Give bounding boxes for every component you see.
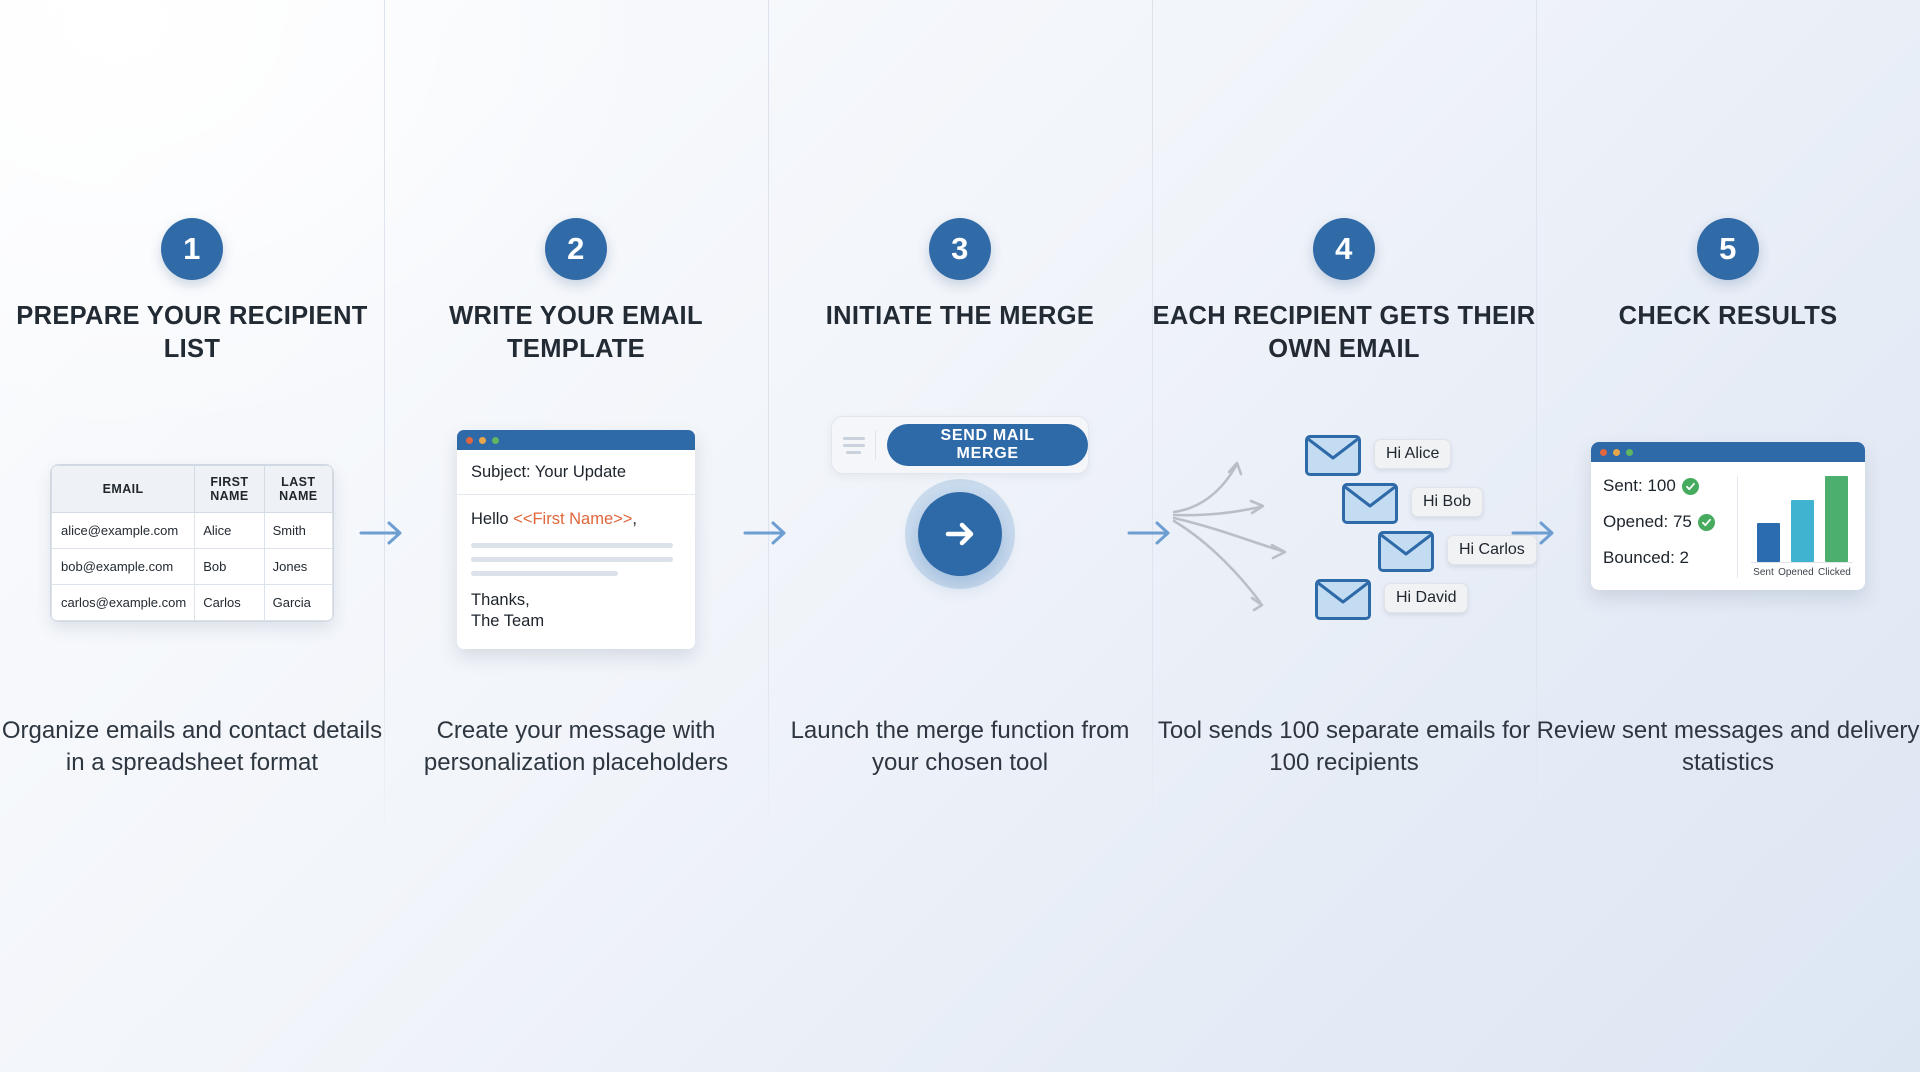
stat-bounced: Bounced: 2 xyxy=(1603,548,1731,568)
email-body: Hello <<First Name>>, Thanks,The Team xyxy=(457,495,695,649)
check-icon xyxy=(1698,514,1715,531)
step-5-column: 5 CHECK RESULTS Sent: 100 Opene xyxy=(1536,0,1920,1072)
signoff-line-1: Thanks, xyxy=(471,591,530,609)
table-row[interactable]: carlos@example.com Carlos Garcia xyxy=(52,585,333,621)
stat-label: Bounced: 2 xyxy=(1603,548,1689,568)
step-1-badge: 1 xyxy=(161,218,223,280)
chart-bars xyxy=(1751,476,1853,563)
step-5-badge: 5 xyxy=(1697,218,1759,280)
check-icon xyxy=(1682,478,1699,495)
signoff-line-2: The Team xyxy=(471,612,544,630)
recipient-spreadsheet[interactable]: EMAIL FIRST NAME LAST NAME alice@example… xyxy=(50,464,334,622)
column-header-first-name: FIRST NAME xyxy=(195,466,264,513)
chart-bar-opened xyxy=(1791,500,1814,562)
maximize-dot-icon[interactable] xyxy=(492,437,499,444)
recipient-bubble: Hi Bob xyxy=(1411,487,1483,517)
minimize-dot-icon[interactable] xyxy=(479,437,486,444)
step-4-description: Tool sends 100 separate emails for 100 r… xyxy=(1152,715,1536,780)
step-3-description: Launch the merge function from your chos… xyxy=(768,715,1152,780)
step-2-description: Create your message with personalization… xyxy=(384,715,768,780)
email-body-placeholder-lines xyxy=(471,543,681,576)
column-header-email: EMAIL xyxy=(52,466,195,513)
results-stats-list: Sent: 100 Opened: 75 Bounced: 2 xyxy=(1603,476,1738,578)
email-signoff: Thanks,The Team xyxy=(471,590,681,632)
email-greeting: Hello <<First Name>>, xyxy=(471,510,681,529)
cell-email: alice@example.com xyxy=(52,513,195,549)
email-template-window[interactable]: Subject: Your Update Hello <<First Name>… xyxy=(457,430,695,649)
chart-bar-clicked xyxy=(1825,476,1848,562)
chart-tick-clicked: Clicked xyxy=(1818,567,1851,578)
chart-tick-sent: Sent xyxy=(1753,567,1774,578)
cell-first-name: Carlos xyxy=(195,585,264,621)
cell-first-name: Bob xyxy=(195,549,264,585)
merge-toolbar: SEND MAIL MERGE xyxy=(831,416,1089,474)
step-2-title: WRITE YOUR EMAIL TEMPLATE xyxy=(384,300,768,365)
cell-email: bob@example.com xyxy=(52,549,195,585)
cell-last-name: Jones xyxy=(264,549,332,585)
fanout-arrows xyxy=(1172,420,1292,640)
step-1-title: PREPARE YOUR RECIPIENT LIST xyxy=(0,300,384,365)
step-5-artwork: Sent: 100 Opened: 75 Bounced: 2 xyxy=(1536,420,1920,670)
arrow-right-icon[interactable] xyxy=(918,492,1002,576)
cell-first-name: Alice xyxy=(195,513,264,549)
step-3-badge: 3 xyxy=(929,218,991,280)
recipient-bubble: Hi Alice xyxy=(1374,439,1451,469)
step-3-artwork: SEND MAIL MERGE xyxy=(768,420,1152,670)
greeting-prefix: Hello xyxy=(471,510,513,528)
cell-email: carlos@example.com xyxy=(52,585,195,621)
step-1-column: 1 PREPARE YOUR RECIPIENT LIST EMAIL FIRS… xyxy=(0,0,384,1072)
stat-label: Sent: 100 xyxy=(1603,476,1676,496)
table-row[interactable]: bob@example.com Bob Jones xyxy=(52,549,333,585)
infographic-canvas: 1 PREPARE YOUR RECIPIENT LIST EMAIL FIRS… xyxy=(0,0,1920,1072)
chart-tick-opened: Opened xyxy=(1778,567,1814,578)
envelope-icon xyxy=(1315,579,1371,620)
maximize-dot-icon[interactable] xyxy=(1626,449,1633,456)
results-bar-chart: Sent Opened Clicked xyxy=(1738,476,1853,578)
step-4-badge: 4 xyxy=(1313,218,1375,280)
step-2-column: 2 WRITE YOUR EMAIL TEMPLATE Subject: You… xyxy=(384,0,768,1072)
chart-x-tick-labels: Sent Opened Clicked xyxy=(1751,567,1853,578)
email-subject-line: Subject: Your Update xyxy=(457,450,695,495)
cell-last-name: Smith xyxy=(264,513,332,549)
minimize-dot-icon[interactable] xyxy=(1613,449,1620,456)
stat-opened: Opened: 75 xyxy=(1603,512,1731,532)
window-titlebar xyxy=(457,430,695,450)
column-header-last-name: LAST NAME xyxy=(264,466,332,513)
greeting-suffix: , xyxy=(632,510,637,528)
envelope-icon xyxy=(1378,531,1434,572)
close-dot-icon[interactable] xyxy=(466,437,473,444)
send-mail-merge-button[interactable]: SEND MAIL MERGE xyxy=(887,424,1088,466)
step-4-artwork: Hi Alice Hi Bob Hi Carlos Hi David xyxy=(1152,420,1536,670)
table-header-row: EMAIL FIRST NAME LAST NAME xyxy=(52,466,333,513)
envelope-icon xyxy=(1305,435,1361,476)
step-1-artwork: EMAIL FIRST NAME LAST NAME alice@example… xyxy=(0,420,384,670)
envelope-icon xyxy=(1342,483,1398,524)
merge-placeholder-token: <<First Name>> xyxy=(513,510,632,528)
window-titlebar xyxy=(1591,442,1865,462)
step-2-badge: 2 xyxy=(545,218,607,280)
close-dot-icon[interactable] xyxy=(1600,449,1607,456)
table-row[interactable]: alice@example.com Alice Smith xyxy=(52,513,333,549)
step-3-title: INITIATE THE MERGE xyxy=(768,300,1152,333)
step-5-title: CHECK RESULTS xyxy=(1536,300,1920,333)
step-4-title: EACH RECIPIENT GETS THEIR OWN EMAIL xyxy=(1152,300,1536,365)
step-4-column: 4 EACH RECIPIENT GETS THEIR OWN EMAIL Hi… xyxy=(1152,0,1536,1072)
hamburger-icon[interactable] xyxy=(832,430,876,460)
chart-bar-sent xyxy=(1757,523,1780,562)
step-2-artwork: Subject: Your Update Hello <<First Name>… xyxy=(384,420,768,670)
stat-label: Opened: 75 xyxy=(1603,512,1692,532)
step-5-description: Review sent messages and delivery statis… xyxy=(1536,715,1920,780)
cell-last-name: Garcia xyxy=(264,585,332,621)
step-1-description: Organize emails and contact details in a… xyxy=(0,715,384,780)
step-3-column: 3 INITIATE THE MERGE SEND MAIL MERGE Lau… xyxy=(768,0,1152,1072)
results-body: Sent: 100 Opened: 75 Bounced: 2 xyxy=(1591,462,1865,590)
recipient-bubble: Hi David xyxy=(1384,583,1468,613)
results-window[interactable]: Sent: 100 Opened: 75 Bounced: 2 xyxy=(1591,442,1865,590)
stat-sent: Sent: 100 xyxy=(1603,476,1731,496)
